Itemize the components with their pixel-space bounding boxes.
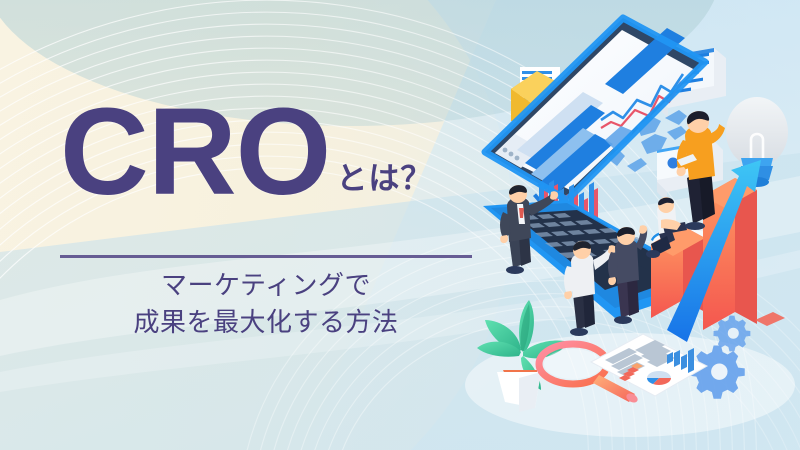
illustration [455, 0, 800, 450]
title-suffix: とは？ [336, 153, 432, 209]
title-row: CRO とは？ [60, 96, 480, 209]
doc-pie-chart [647, 371, 671, 385]
subtitle-line-2: 成果を最大化する方法 [60, 305, 472, 342]
subtitle-block: マーケティングで 成果を最大化する方法 [60, 268, 472, 342]
color-tabs [755, 312, 785, 326]
subtitle-line-1: マーケティングで [60, 268, 472, 305]
headline-block: CRO とは？ [60, 96, 480, 209]
page-title: CRO [60, 96, 330, 209]
banner-canvas: CRO とは？ マーケティングで 成果を最大化する方法 [0, 0, 800, 450]
title-divider [60, 255, 472, 258]
